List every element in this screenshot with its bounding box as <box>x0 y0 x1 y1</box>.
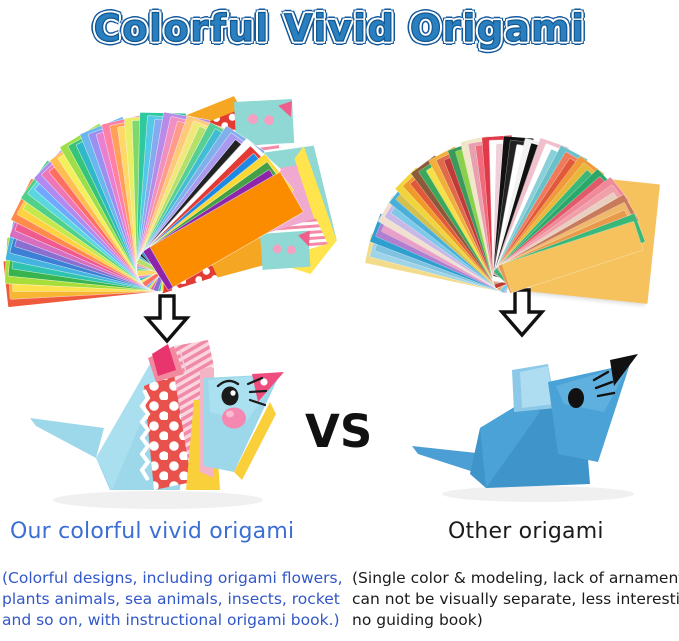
down-arrow-icon-left <box>143 294 191 344</box>
left-paper-stack-image <box>2 58 338 298</box>
left-description: (Colorful designs, including origami flo… <box>2 568 336 631</box>
right-description-line-3: no guiding book) <box>352 610 678 631</box>
product-comparison-infographic: Colorful Vivid Origami <box>0 0 679 641</box>
right-description: (Single color & modeling, lack of arname… <box>352 568 678 631</box>
page-title: Colorful Vivid Origami <box>94 7 586 50</box>
right-description-line-1: (Single color & modeling, lack of arname… <box>352 568 678 589</box>
left-description-line-1: (Colorful designs, including origami flo… <box>2 568 336 589</box>
left-heading: Our colorful vivid origami <box>10 519 294 544</box>
left-origami-mouse-image <box>8 340 300 518</box>
right-origami-mouse-image <box>408 342 670 518</box>
vs-label: VS <box>305 405 372 458</box>
right-description-line-2: can not be visually separate, less inter… <box>352 589 678 610</box>
right-paper-stack-image <box>348 58 678 298</box>
left-description-line-2: plants animals, sea animals, insects, ro… <box>2 589 336 610</box>
page-title-container: Colorful Vivid Origami <box>0 4 679 52</box>
down-arrow-icon-right <box>498 288 546 338</box>
left-description-line-3: and so on, with instructional origami bo… <box>2 610 336 631</box>
right-heading: Other origami <box>448 519 604 544</box>
